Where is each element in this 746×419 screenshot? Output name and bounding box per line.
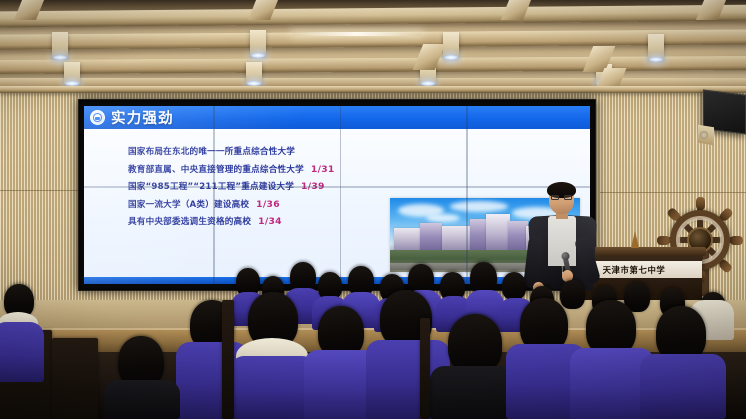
ceiling-spotlight [246, 62, 262, 84]
panel-seam [84, 186, 590, 188]
list-item: 国家一流大学（A类）建设高校 1/36 [128, 198, 428, 216]
list-item: 具有中央部委选调生资格的高校 1/34 [128, 215, 428, 233]
led-video-wall[interactable]: 实力强劲 国家布局在东北的唯一一所重点综合性大学 教育部直属、中央直接管理的重点… [78, 99, 596, 291]
speaker-knob [700, 131, 708, 139]
ceiling-spotlight [64, 62, 80, 84]
ceiling [0, 0, 746, 92]
bullet-list: 国家布局在东北的唯一一所重点综合性大学 教育部直属、中央直接管理的重点综合性大学… [128, 145, 428, 233]
presenter [524, 184, 600, 304]
hand-left [533, 282, 544, 293]
panel-seam [213, 106, 215, 284]
bullet-text: 具有中央部委选调生资格的高校 [128, 215, 251, 227]
wall-trim [0, 86, 746, 93]
ceiling-spotlight [250, 30, 266, 56]
slide-footer-bar [84, 277, 590, 284]
wall-seam [0, 190, 78, 191]
bullet-text: 国家一流大学（A类）建设高校 [128, 198, 249, 210]
ceiling-spotlight [443, 32, 459, 58]
university-seal-icon [90, 110, 105, 125]
panel-seam [340, 106, 342, 284]
wall-seam [600, 192, 746, 193]
panel-seam [466, 106, 468, 284]
slide-body: 国家布局在东北的唯一一所重点综合性大学 教育部直属、中央直接管理的重点综合性大学… [84, 129, 590, 284]
ceiling-spotlight [648, 34, 664, 60]
slide-title: 实力强劲 [111, 107, 174, 128]
bullet-text: 教育部直属、中央直接管理的重点综合性大学 [128, 163, 304, 175]
list-item: 教育部直属、中央直接管理的重点综合性大学 1/31 [128, 163, 428, 181]
ceiling-beam [0, 56, 746, 74]
ceiling-strip-light [292, 32, 422, 36]
podium-text: 天津市第七中学 [603, 264, 666, 276]
ceiling-beam [0, 4, 746, 27]
photo-scene: 实力强劲 国家布局在东北的唯一一所重点综合性大学 教育部直属、中央直接管理的重点… [0, 0, 746, 419]
glasses-icon [551, 195, 572, 200]
bullet-rank: 1/34 [258, 216, 282, 227]
slide-surface: 实力强劲 国家布局在东北的唯一一所重点综合性大学 教育部直属、中央直接管理的重点… [84, 106, 590, 284]
school-crest-icon [624, 231, 646, 253]
floor [0, 352, 746, 419]
bullet-rank: 1/31 [311, 164, 335, 175]
bullet-text: 国家布局在东北的唯一一所重点综合性大学 [128, 145, 295, 157]
list-item: 国家“985工程”“211工程”重点建设大学 1/39 [128, 180, 428, 198]
bullet-rank: 1/36 [256, 199, 280, 210]
slide-header: 实力强劲 [84, 106, 590, 129]
list-item: 国家布局在东北的唯一一所重点综合性大学 [128, 145, 428, 163]
hand-holding-mic [562, 270, 573, 282]
ceiling-spotlight [52, 32, 68, 58]
